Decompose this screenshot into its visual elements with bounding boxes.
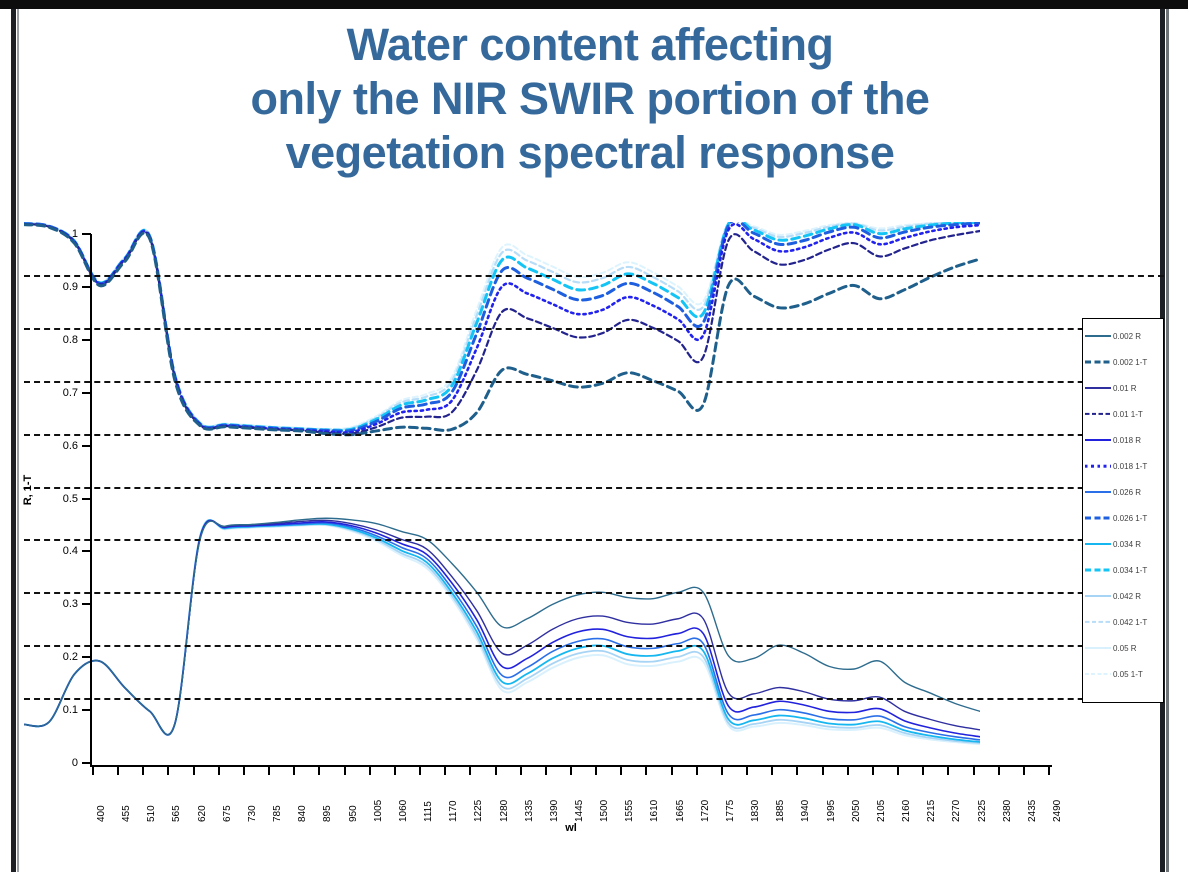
- x-axis-tick: [746, 767, 748, 775]
- x-axis-tick: [796, 767, 798, 775]
- x-axis-tick: [872, 767, 874, 775]
- legend-swatch-icon: [1085, 565, 1111, 575]
- x-axis-tick-label: 620: [197, 778, 208, 822]
- x-axis-tick-label: 1995: [826, 778, 837, 822]
- legend-item[interactable]: 0.002 1-T: [1085, 349, 1161, 375]
- legend-item[interactable]: 0.018 R: [1085, 427, 1161, 453]
- legend-label: 0.01 1-T: [1113, 410, 1143, 419]
- x-axis-tick-label: 2215: [926, 778, 937, 822]
- x-axis-tick: [318, 767, 320, 775]
- gridline: [24, 645, 1164, 647]
- x-axis-tick-label: 1885: [775, 778, 786, 822]
- series-line: [24, 520, 980, 742]
- legend-item[interactable]: 0.018 1-T: [1085, 453, 1161, 479]
- x-axis-tick-label: 2050: [851, 778, 862, 822]
- gridline: [24, 275, 1164, 277]
- x-axis-tick-label: 1775: [725, 778, 736, 822]
- x-axis-tick-label: 2270: [951, 778, 962, 822]
- legend-item[interactable]: 0.05 1-T: [1085, 661, 1161, 687]
- x-axis-tick: [394, 767, 396, 775]
- series-line: [24, 518, 980, 734]
- title-line-2: only the NIR SWIR portion of the: [60, 72, 1120, 126]
- y-axis-tick-label: 0.8: [38, 334, 78, 346]
- legend-item[interactable]: 0.042 R: [1085, 583, 1161, 609]
- x-axis-tick: [595, 767, 597, 775]
- x-axis-tick-label: 1665: [675, 778, 686, 822]
- y-axis-tick: [82, 392, 91, 394]
- gridline: [24, 592, 1164, 594]
- legend-swatch-icon: [1085, 357, 1111, 367]
- x-axis-tick-label: 565: [171, 778, 182, 822]
- gridline: [24, 328, 1164, 330]
- x-axis-tick-label: 1940: [800, 778, 811, 822]
- x-axis-tick-label: 455: [121, 778, 132, 822]
- legend-item[interactable]: 0.034 1-T: [1085, 557, 1161, 583]
- x-axis-tick-label: 730: [247, 778, 258, 822]
- x-axis-tick-label: 1610: [649, 778, 660, 822]
- gridline: [24, 539, 1164, 541]
- x-axis-tick: [973, 767, 975, 775]
- x-axis-tick-label: 675: [222, 778, 233, 822]
- y-axis-tick: [82, 603, 91, 605]
- x-axis-tick: [193, 767, 195, 775]
- x-axis-tick-label: 1335: [524, 778, 535, 822]
- x-axis-tick-label: 895: [322, 778, 333, 822]
- x-axis-tick: [645, 767, 647, 775]
- legend-item[interactable]: 0.042 1-T: [1085, 609, 1161, 635]
- legend-label: 0.018 R: [1113, 436, 1141, 445]
- x-axis-tick: [922, 767, 924, 775]
- y-axis-tick-label: 0.3: [38, 598, 78, 610]
- x-axis-tick-label: 1500: [599, 778, 610, 822]
- x-axis-tick: [369, 767, 371, 775]
- x-axis-tick: [998, 767, 1000, 775]
- legend-swatch-icon: [1085, 383, 1111, 393]
- x-axis-tick-label: 1830: [750, 778, 761, 822]
- y-axis-tick: [82, 445, 91, 447]
- x-axis-tick-label: 840: [297, 778, 308, 822]
- x-axis-tick-label: 1170: [448, 778, 459, 822]
- legend-label: 0.002 R: [1113, 332, 1141, 341]
- y-axis-tick-label: 0: [38, 757, 78, 769]
- legend-label: 0.026 1-T: [1113, 514, 1147, 523]
- series-line: [24, 521, 980, 737]
- legend-item[interactable]: 0.01 R: [1085, 375, 1161, 401]
- x-axis-tick: [620, 767, 622, 775]
- title-line-1: Water content affecting: [60, 18, 1120, 72]
- slide-frame-left-inner: [17, 9, 19, 872]
- y-axis-tick: [82, 550, 91, 552]
- legend-item[interactable]: 0.05 R: [1085, 635, 1161, 661]
- legend-swatch-icon: [1085, 487, 1111, 497]
- y-axis-tick-label: 0.6: [38, 440, 78, 452]
- x-axis-tick-label: 2435: [1027, 778, 1038, 822]
- series-line: [24, 520, 980, 743]
- plot-area: [24, 222, 1164, 751]
- legend-label: 0.026 R: [1113, 488, 1141, 497]
- x-axis-tick-label: 1390: [549, 778, 560, 822]
- x-axis-tick-label: 950: [348, 778, 359, 822]
- y-axis-tick-label: 0.2: [38, 651, 78, 663]
- x-axis-tick: [545, 767, 547, 775]
- x-axis-tick: [117, 767, 119, 775]
- slide-frame-top: [0, 0, 1188, 9]
- y-axis-tick: [82, 233, 91, 235]
- legend-swatch-icon: [1085, 331, 1111, 341]
- x-axis-tick: [419, 767, 421, 775]
- x-axis-tick: [696, 767, 698, 775]
- legend-swatch-icon: [1085, 643, 1111, 653]
- series-line: [24, 520, 980, 734]
- spectral-response-chart: 10.90.80.70.60.50.40.30.20.10 R, 1-T 400…: [24, 222, 1164, 862]
- x-axis-tick: [1048, 767, 1050, 775]
- legend-swatch-icon: [1085, 591, 1111, 601]
- x-axis-tick: [847, 767, 849, 775]
- x-axis-tick: [243, 767, 245, 775]
- x-axis-tick: [167, 767, 169, 775]
- y-axis-tick: [82, 498, 91, 500]
- x-axis-title: wl: [24, 822, 1118, 834]
- slide-frame-left: [11, 9, 16, 872]
- x-axis-tick-label: 1445: [574, 778, 585, 822]
- x-axis-tick-label: 1115: [423, 778, 434, 822]
- x-axis-tick-label: 1060: [398, 778, 409, 822]
- legend-label: 0.002 1-T: [1113, 358, 1147, 367]
- legend-swatch-icon: [1085, 617, 1111, 627]
- legend-label: 0.01 R: [1113, 384, 1137, 393]
- legend-swatch-icon: [1085, 435, 1111, 445]
- legend-item[interactable]: 0.026 R: [1085, 479, 1161, 505]
- y-axis-tick: [82, 286, 91, 288]
- x-axis-tick: [293, 767, 295, 775]
- legend-label: 0.05 R: [1113, 644, 1137, 653]
- x-axis-tick-label: 2160: [901, 778, 912, 822]
- y-axis-tick: [82, 656, 91, 658]
- legend-swatch-icon: [1085, 539, 1111, 549]
- gridline: [24, 381, 1164, 383]
- x-axis-tick: [721, 767, 723, 775]
- x-axis-tick-label: 1280: [499, 778, 510, 822]
- x-axis-tick: [444, 767, 446, 775]
- y-axis-title: R, 1-T: [22, 475, 34, 506]
- title-line-3: vegetation spectral response: [60, 126, 1120, 180]
- chart-legend: 0.002 R0.002 1-T0.01 R0.01 1-T0.018 R0.0…: [1082, 318, 1164, 703]
- legend-item[interactable]: 0.026 1-T: [1085, 505, 1161, 531]
- y-axis-tick: [82, 339, 91, 341]
- x-axis-tick: [495, 767, 497, 775]
- x-axis-tick-label: 1555: [624, 778, 635, 822]
- legend-item[interactable]: 0.01 1-T: [1085, 401, 1161, 427]
- x-axis-tick: [92, 767, 94, 775]
- legend-swatch-icon: [1085, 409, 1111, 419]
- x-axis-tick-label: 2325: [977, 778, 988, 822]
- x-axis-tick-label: 2105: [876, 778, 887, 822]
- x-axis-tick: [520, 767, 522, 775]
- x-axis-tick-label: 510: [146, 778, 157, 822]
- x-axis-tick-label: 2380: [1002, 778, 1013, 822]
- page-title: Water content affecting only the NIR SWI…: [60, 18, 1120, 180]
- legend-swatch-icon: [1085, 513, 1111, 523]
- x-axis-tick-label: 400: [96, 778, 107, 822]
- y-axis-tick: [82, 709, 91, 711]
- x-axis-tick: [822, 767, 824, 775]
- x-axis-tick: [897, 767, 899, 775]
- legend-label: 0.034 R: [1113, 540, 1141, 549]
- x-axis-tick: [947, 767, 949, 775]
- y-axis-tick-label: 0.7: [38, 387, 78, 399]
- y-axis-tick-label: 0.1: [38, 704, 78, 716]
- x-axis-tick-label: 1720: [700, 778, 711, 822]
- legend-item[interactable]: 0.034 R: [1085, 531, 1161, 557]
- x-axis-tick: [570, 767, 572, 775]
- x-axis-tick: [142, 767, 144, 775]
- y-axis-tick-label: 1: [38, 228, 78, 240]
- x-axis-tick: [344, 767, 346, 775]
- x-axis-tick: [671, 767, 673, 775]
- gridline: [24, 434, 1164, 436]
- y-axis-tick-label: 0.5: [38, 493, 78, 505]
- legend-item[interactable]: 0.002 R: [1085, 323, 1161, 349]
- series-line: [24, 520, 980, 740]
- y-axis-tick: [82, 762, 91, 764]
- x-axis-tick-label: 2490: [1052, 778, 1063, 822]
- x-axis-tick: [1023, 767, 1025, 775]
- x-axis-tick-label: 1225: [473, 778, 484, 822]
- legend-swatch-icon: [1085, 461, 1111, 471]
- x-axis-tick: [771, 767, 773, 775]
- y-axis-tick-label: 0.9: [38, 281, 78, 293]
- x-axis-tick: [268, 767, 270, 775]
- legend-label: 0.034 1-T: [1113, 566, 1147, 575]
- slide-frame-right-outer: [1166, 9, 1169, 872]
- legend-label: 0.042 1-T: [1113, 618, 1147, 627]
- x-axis-tick: [218, 767, 220, 775]
- legend-label: 0.042 R: [1113, 592, 1141, 601]
- slide: Water content affecting only the NIR SWI…: [0, 0, 1188, 872]
- legend-swatch-icon: [1085, 669, 1111, 679]
- gridline: [24, 487, 1164, 489]
- x-axis-tick-label: 785: [272, 778, 283, 822]
- legend-label: 0.018 1-T: [1113, 462, 1147, 471]
- y-axis-line: [90, 234, 92, 765]
- legend-label: 0.05 1-T: [1113, 670, 1143, 679]
- gridline: [24, 698, 1164, 700]
- series-line: [24, 520, 980, 744]
- y-axis-tick-label: 0.4: [38, 545, 78, 557]
- x-axis-tick-label: 1005: [373, 778, 384, 822]
- x-axis-tick: [469, 767, 471, 775]
